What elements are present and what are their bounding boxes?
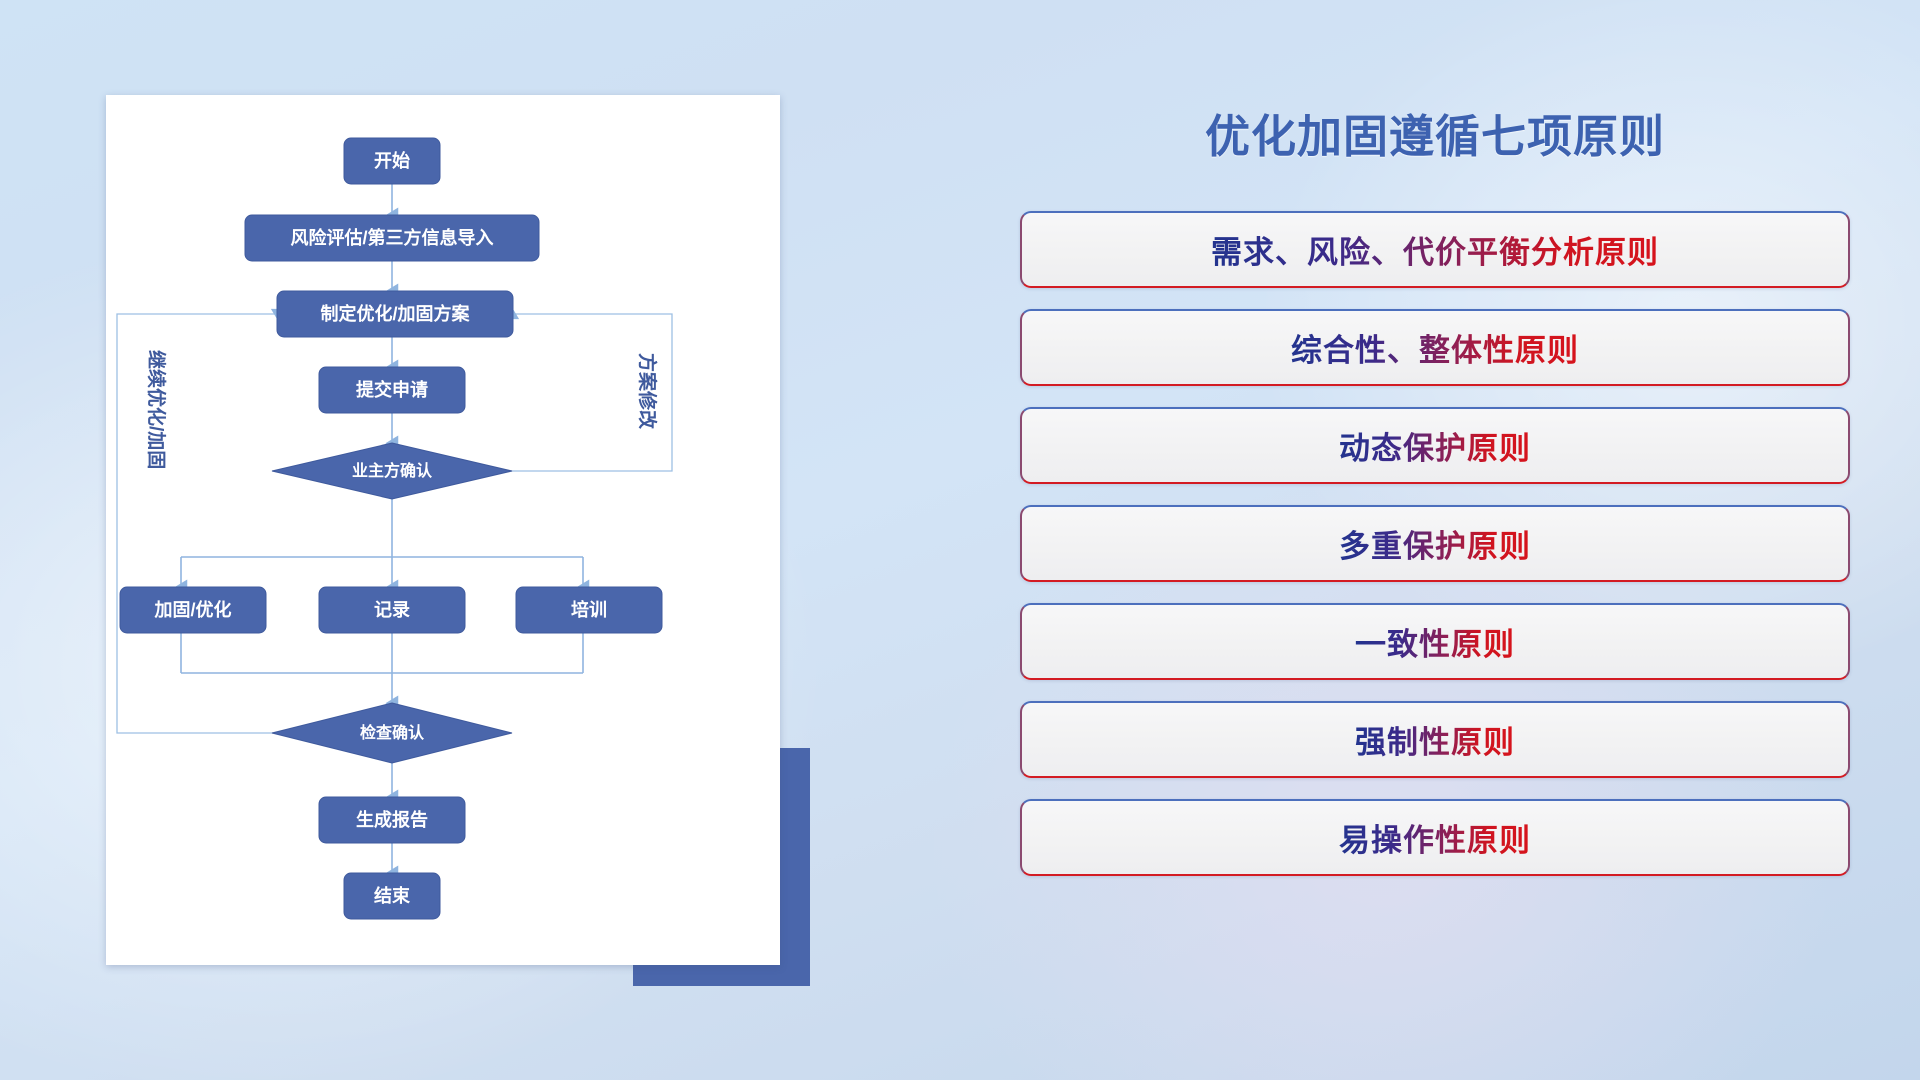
flow-node-start-label: 开始: [374, 150, 410, 171]
flow-node-owner-confirm-label: 业主方确认: [352, 461, 433, 480]
flow-node-record-label: 记录: [374, 600, 410, 620]
flowchart-left-loop-label: 继续优化/加固: [145, 350, 168, 469]
principle-label-3: 动态保护原则: [1339, 423, 1531, 468]
flow-node-training-label: 培训: [571, 599, 607, 620]
principles-list: 需求、风险、代价平衡分析原则 综合性、整体性原则 动态保护原则 多重保护原则 一…: [1020, 211, 1850, 876]
flow-node-risk-label: 风险评估/第三方信息导入: [291, 227, 494, 248]
flow-node-plan-label: 制定优化/加固方案: [320, 303, 470, 324]
flow-node-check-label: 检查确认: [360, 723, 425, 742]
principle-label-2: 综合性、整体性原则: [1291, 325, 1579, 370]
flow-node-submit-label: 提交申请: [356, 379, 428, 400]
flow-node-report-label: 生成报告: [356, 809, 428, 830]
principle-card-1[interactable]: 需求、风险、代价平衡分析原则: [1020, 211, 1850, 288]
flowchart-diagram: 开始 风险评估/第三方信息导入 制定优化/加固方案 提交申请 业主方确认 加固/…: [106, 95, 780, 965]
principles-title: 优化加固遵循七项原则: [1020, 100, 1850, 165]
flowchart-right-loop-label: 方案修改: [636, 353, 659, 430]
principle-label-6: 强制性原则: [1355, 717, 1515, 762]
principle-label-1: 需求、风险、代价平衡分析原则: [1211, 227, 1659, 272]
principle-card-7[interactable]: 易操作性原则: [1020, 799, 1850, 876]
principle-card-4[interactable]: 多重保护原则: [1020, 505, 1850, 582]
principle-label-4: 多重保护原则: [1339, 521, 1531, 566]
principle-card-3[interactable]: 动态保护原则: [1020, 407, 1850, 484]
principle-card-2[interactable]: 综合性、整体性原则: [1020, 309, 1850, 386]
flow-node-reinforce-label: 加固/优化: [153, 599, 231, 620]
principle-label-5: 一致性原则: [1355, 619, 1515, 664]
principle-label-7: 易操作性原则: [1339, 815, 1531, 860]
principle-card-5[interactable]: 一致性原则: [1020, 603, 1850, 680]
principle-card-6[interactable]: 强制性原则: [1020, 701, 1850, 778]
flow-node-end-label: 结束: [374, 885, 411, 906]
principles-panel: 优化加固遵循七项原则 需求、风险、代价平衡分析原则 综合性、整体性原则 动态保护…: [1020, 100, 1850, 1000]
